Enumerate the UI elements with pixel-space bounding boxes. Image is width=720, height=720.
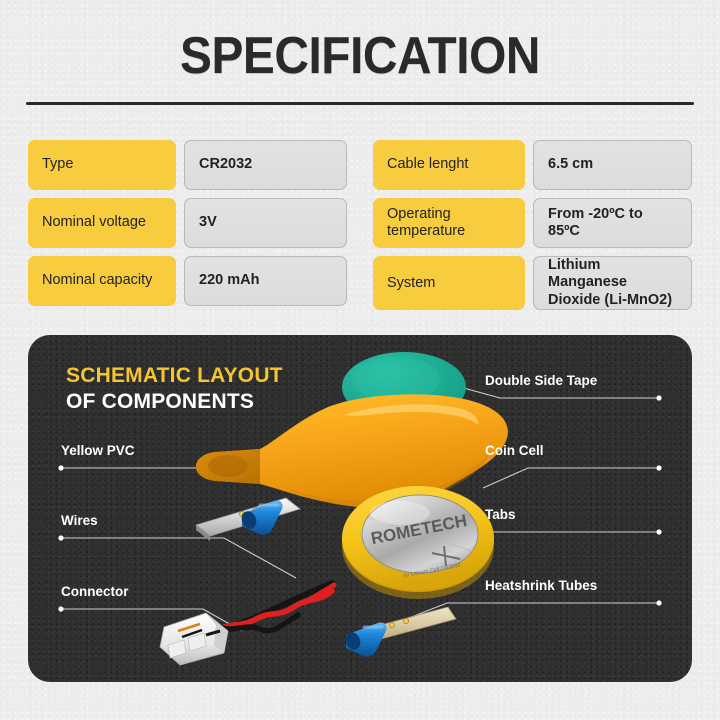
svg-text:ROMETECH: ROMETECH bbox=[369, 511, 468, 548]
table-row: Nominal capacity 220 mAh bbox=[28, 256, 347, 306]
spec-value: Lithium Manganese Dioxide (Li-MnO2) bbox=[533, 256, 692, 310]
callout-label-tabs: Tabs bbox=[485, 507, 516, 522]
connector-art bbox=[160, 613, 228, 665]
spec-label: System bbox=[373, 256, 525, 310]
tab-strip-lower-art bbox=[350, 607, 456, 645]
spec-value: CR2032 bbox=[184, 140, 347, 190]
callout-label-coin-cell: Coin Cell bbox=[485, 443, 544, 458]
spec-label: Type bbox=[28, 140, 176, 190]
spec-value: 3V bbox=[184, 198, 347, 248]
double-side-tape-art bbox=[342, 352, 466, 422]
spec-column-right: Cable lenght 6.5 cm Operating temperatur… bbox=[373, 140, 692, 306]
title-divider bbox=[26, 102, 694, 105]
schematic-heading: SCHEMATIC LAYOUT OF COMPONENTS bbox=[66, 363, 283, 414]
schematic-heading-line2: OF COMPONENTS bbox=[66, 389, 283, 415]
specification-table: Type CR2032 Nominal voltage 3V Nominal c… bbox=[28, 140, 692, 306]
spec-label: Nominal voltage bbox=[28, 198, 176, 248]
callout-label-heatshrink-tubes: Heatshrink Tubes bbox=[485, 578, 597, 593]
spec-column-left: Type CR2032 Nominal voltage 3V Nominal c… bbox=[28, 140, 347, 306]
page-title: SPECIFICATION bbox=[29, 26, 691, 86]
tab-strip-upper-art bbox=[196, 498, 300, 541]
schematic-panel: SCHEMATIC LAYOUT OF COMPONENTS bbox=[28, 335, 692, 682]
heatshrink-tube-upper-art bbox=[239, 500, 282, 534]
table-row: Type CR2032 bbox=[28, 140, 347, 190]
callout-label-wires: Wires bbox=[61, 513, 98, 528]
callout-label-yellow-pvc: Yellow PVC bbox=[61, 443, 135, 458]
spec-value: 6.5 cm bbox=[533, 140, 692, 190]
heatshrink-tube-lower-art bbox=[343, 622, 386, 656]
callout-label-connector: Connector bbox=[61, 584, 129, 599]
coin-cell-art: ROMETECH 3V Lithium Cell CR2032 bbox=[342, 486, 494, 599]
spec-label: Operating temperature bbox=[373, 198, 525, 248]
spec-value: 220 mAh bbox=[184, 256, 347, 306]
leader-lines-left bbox=[61, 447, 380, 631]
table-row: Operating temperature From -20ºC to 85ºC bbox=[373, 198, 692, 248]
svg-text:3V Lithium Cell CR2032: 3V Lithium Cell CR2032 bbox=[402, 562, 461, 579]
table-row: Cable lenght 6.5 cm bbox=[373, 140, 692, 190]
schematic-heading-line1: SCHEMATIC LAYOUT bbox=[66, 363, 283, 389]
table-row: System Lithium Manganese Dioxide (Li-MnO… bbox=[373, 256, 692, 306]
spec-label: Nominal capacity bbox=[28, 256, 176, 306]
spec-value: From -20ºC to 85ºC bbox=[533, 198, 692, 248]
spec-label: Cable lenght bbox=[373, 140, 525, 190]
leader-dots-right bbox=[656, 395, 661, 605]
table-row: Nominal voltage 3V bbox=[28, 198, 347, 248]
callout-label-double-side-tape: Double Side Tape bbox=[485, 373, 597, 388]
twisted-wires-art bbox=[214, 583, 334, 631]
